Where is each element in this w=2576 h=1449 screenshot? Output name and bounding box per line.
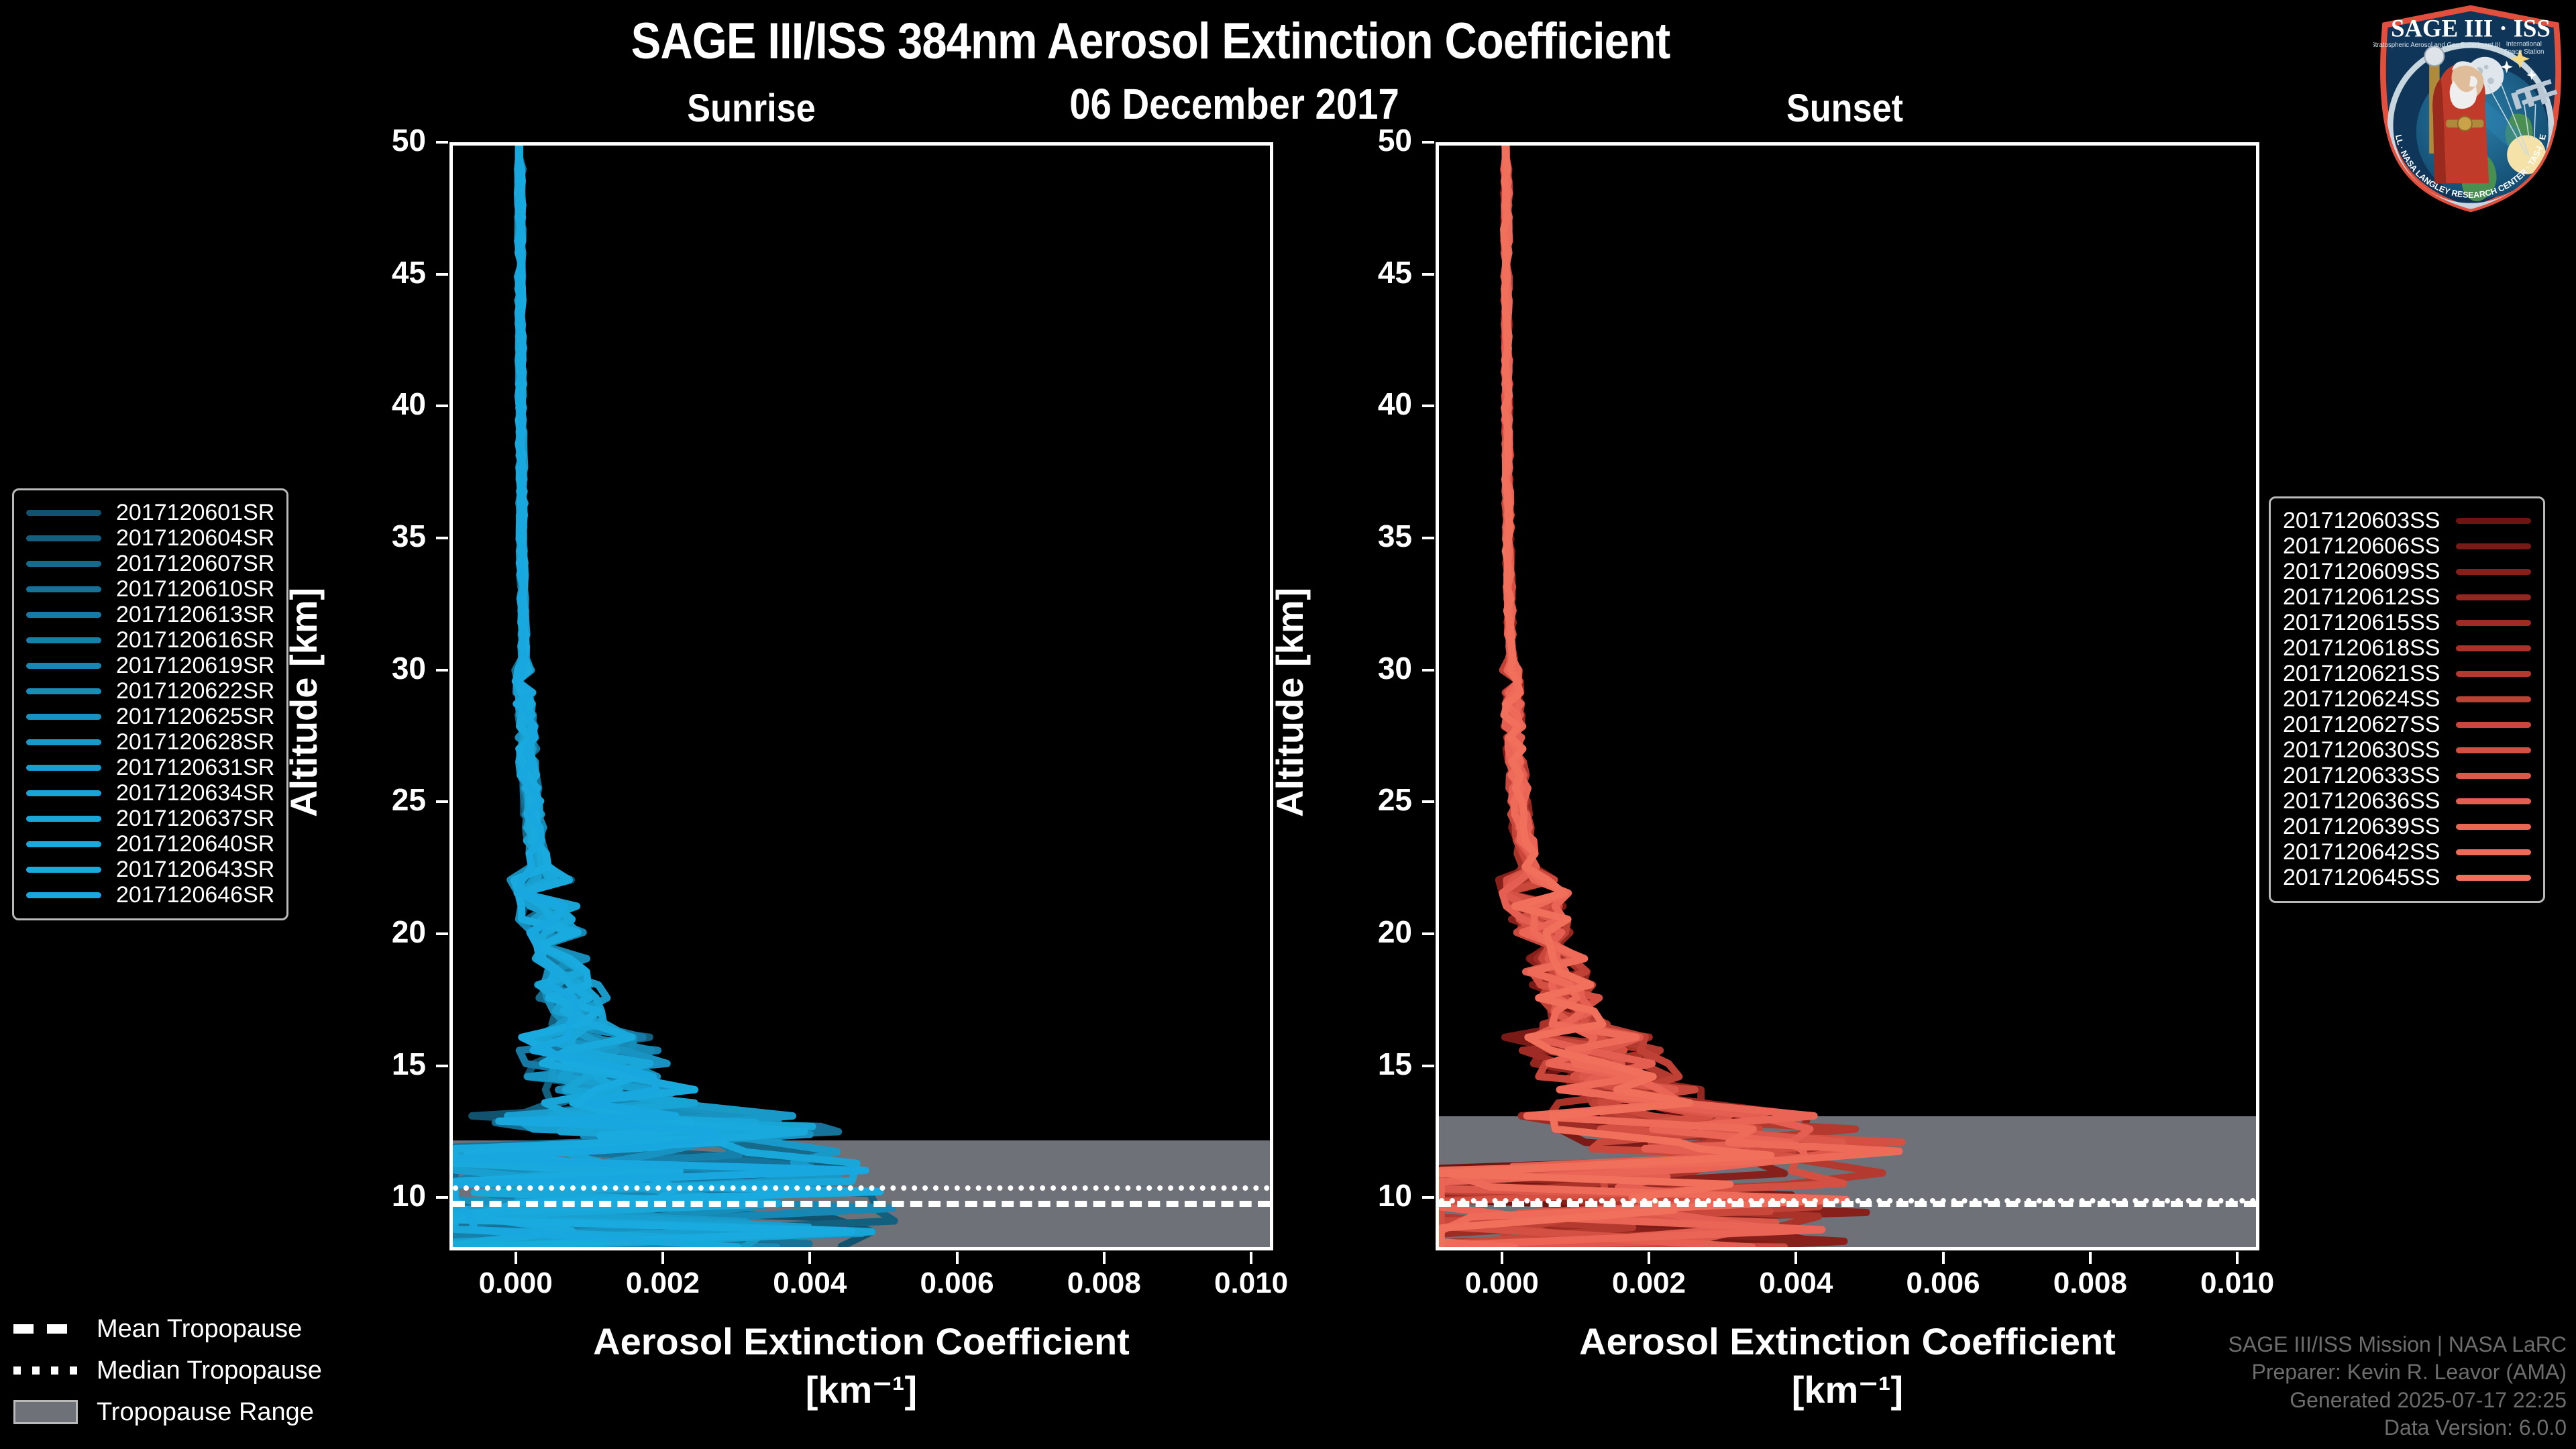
x-tick-mark <box>1648 1252 1650 1264</box>
legend-item[interactable]: 2017120619SR <box>26 653 274 678</box>
legend-item[interactable]: 2017120624SS <box>2283 686 2531 712</box>
x-tick-mark <box>1103 1252 1106 1264</box>
patch-subtitle-right-1: International <box>2506 40 2542 48</box>
x-tick-label: 0.002 <box>1575 1267 1723 1300</box>
legend-color-swatch <box>26 790 101 796</box>
legend-item[interactable]: 2017120643SR <box>26 857 274 882</box>
legend-series-label: 2017120609SS <box>2283 559 2440 585</box>
legend-item[interactable]: 2017120645SS <box>2283 865 2531 890</box>
legend-color-swatch <box>26 535 101 541</box>
legend-color-swatch <box>26 816 101 822</box>
tropopause-legend: Mean Tropopause Median Tropopause Tropop… <box>13 1308 322 1433</box>
legend-color-swatch <box>26 561 101 567</box>
legend-series-label: 2017120603SS <box>2283 508 2440 534</box>
x-tick-mark <box>1501 1252 1503 1264</box>
legend-item[interactable]: 2017120601SR <box>26 500 274 525</box>
x-tick-label: 0.008 <box>2017 1267 2164 1300</box>
y-tick-mark <box>436 669 448 672</box>
x-tick-mark <box>1250 1252 1252 1264</box>
credit-line-version: Data Version: 6.0.0 <box>2229 1414 2567 1442</box>
y-tick-mark <box>436 1065 448 1067</box>
legend-item-tropopause-range: Tropopause Range <box>13 1391 322 1433</box>
sunrise-series-legend[interactable]: 2017120601SR2017120604SR2017120607SR2017… <box>12 488 288 920</box>
legend-series-label: 2017120631SR <box>116 755 274 781</box>
legend-series-label: 2017120634SR <box>116 780 274 806</box>
y-tick-mark <box>1422 932 1434 935</box>
legend-label-range: Tropopause Range <box>97 1398 314 1427</box>
legend-series-label: 2017120624SS <box>2283 686 2440 712</box>
axis-layer: 1015202530354045500.0000.0020.0040.0060.… <box>0 0 2576 1449</box>
legend-item[interactable]: 2017120630SS <box>2283 737 2531 763</box>
x-tick-mark <box>2089 1252 2092 1264</box>
x-tick-label: 0.000 <box>1428 1267 1576 1300</box>
legend-item[interactable]: 2017120603SS <box>2283 508 2531 533</box>
legend-series-label: 2017120622SR <box>116 678 274 704</box>
legend-color-swatch <box>2456 875 2531 881</box>
x-tick-label: 0.010 <box>2163 1267 2311 1300</box>
legend-item[interactable]: 2017120646SR <box>26 882 274 908</box>
legend-item[interactable]: 2017120636SS <box>2283 788 2531 814</box>
x-tick-mark <box>808 1252 811 1264</box>
legend-color-swatch <box>26 663 101 669</box>
legend-color-swatch <box>2456 798 2531 804</box>
legend-series-label: 2017120619SR <box>116 653 274 679</box>
legend-series-label: 2017120612SS <box>2283 584 2440 610</box>
legend-item[interactable]: 2017120610SR <box>26 576 274 602</box>
y-tick-label: 25 <box>1311 782 1412 818</box>
legend-series-label: 2017120637SR <box>116 806 274 832</box>
legend-series-label: 2017120645SS <box>2283 865 2440 891</box>
legend-item[interactable]: 2017120639SS <box>2283 814 2531 839</box>
legend-color-swatch <box>2456 722 2531 728</box>
credit-line-mission: SAGE III/ISS Mission | NASA LaRC <box>2229 1331 2567 1359</box>
y-tick-mark <box>1422 405 1434 407</box>
x-tick-label: 0.004 <box>736 1267 883 1300</box>
legend-item[interactable]: 2017120607SR <box>26 551 274 576</box>
x-axis-units: [km⁻¹] <box>1436 1368 2259 1412</box>
legend-series-label: 2017120642SS <box>2283 839 2440 865</box>
y-tick-mark <box>436 273 448 276</box>
y-tick-label: 20 <box>325 914 426 950</box>
legend-series-label: 2017120627SS <box>2283 712 2440 738</box>
y-tick-label: 40 <box>1311 386 1412 422</box>
legend-color-swatch <box>2456 747 2531 753</box>
legend-item-median-tropopause: Median Tropopause <box>13 1350 322 1391</box>
sage-iii-iss-mission-patch-icon: SAGE III · ISS Stratospheric Aerosol and… <box>2373 5 2568 213</box>
legend-item[interactable]: 2017120618SS <box>2283 635 2531 661</box>
x-tick-mark <box>1794 1252 1797 1264</box>
legend-color-swatch <box>26 586 101 592</box>
legend-color-swatch <box>26 637 101 643</box>
legend-item[interactable]: 2017120634SR <box>26 780 274 806</box>
legend-item[interactable]: 2017120622SR <box>26 678 274 704</box>
legend-color-swatch <box>26 510 101 516</box>
patch-title: SAGE III · ISS <box>2391 15 2551 42</box>
legend-series-label: 2017120646SR <box>116 882 274 908</box>
sunset-series-legend[interactable]: 2017120603SS2017120606SS2017120609SS2017… <box>2269 496 2545 903</box>
legend-series-label: 2017120628SR <box>116 729 274 755</box>
x-tick-label: 0.008 <box>1030 1267 1178 1300</box>
legend-item[interactable]: 2017120633SS <box>2283 763 2531 788</box>
y-axis-title: Altitude [km] <box>1268 588 1311 817</box>
y-tick-mark <box>436 1196 448 1199</box>
legend-color-swatch <box>26 688 101 694</box>
y-tick-label: 10 <box>325 1177 426 1214</box>
legend-item[interactable]: 2017120612SS <box>2283 584 2531 610</box>
legend-color-swatch <box>2456 594 2531 600</box>
x-tick-label: 0.006 <box>883 1267 1031 1300</box>
legend-color-swatch <box>26 714 101 720</box>
legend-series-label: 2017120625SR <box>116 704 274 730</box>
legend-item[interactable]: 2017120613SR <box>26 602 274 627</box>
legend-item[interactable]: 2017120616SR <box>26 627 274 653</box>
legend-color-swatch <box>26 892 101 898</box>
legend-item[interactable]: 2017120604SR <box>26 525 274 551</box>
legend-series-label: 2017120630SS <box>2283 737 2440 763</box>
legend-item[interactable]: 2017120621SS <box>2283 661 2531 686</box>
y-tick-label: 15 <box>325 1046 426 1082</box>
y-tick-label: 30 <box>1311 650 1412 686</box>
legend-item-mean-tropopause: Mean Tropopause <box>13 1308 322 1350</box>
credits-block: SAGE III/ISS Mission | NASA LaRC Prepare… <box>2229 1331 2567 1442</box>
x-tick-label: 0.002 <box>589 1267 737 1300</box>
legend-series-label: 2017120636SS <box>2283 788 2440 814</box>
y-tick-mark <box>1422 1065 1434 1067</box>
y-tick-mark <box>436 932 448 935</box>
y-tick-mark <box>1422 800 1434 803</box>
y-tick-mark <box>436 537 448 539</box>
x-axis-title: Aerosol Extinction Coefficient <box>449 1323 1273 1360</box>
x-tick-label: 0.006 <box>1870 1267 2017 1300</box>
x-axis-title: Aerosol Extinction Coefficient <box>1436 1323 2259 1360</box>
y-tick-label: 45 <box>1311 254 1412 290</box>
legend-item[interactable]: 2017120640SR <box>26 831 274 857</box>
legend-series-label: 2017120618SS <box>2283 635 2440 661</box>
credit-line-generated: Generated 2025-07-17 22:25 <box>2229 1387 2567 1415</box>
legend-series-label: 2017120610SR <box>116 576 274 602</box>
legend-color-swatch <box>2456 824 2531 830</box>
legend-color-swatch <box>2456 518 2531 524</box>
y-tick-label: 15 <box>1311 1046 1412 1082</box>
legend-series-label: 2017120601SR <box>116 500 274 526</box>
x-axis-units: [km⁻¹] <box>449 1368 1273 1412</box>
y-tick-label: 10 <box>1311 1177 1412 1214</box>
y-tick-mark <box>1422 273 1434 276</box>
y-tick-label: 50 <box>325 122 426 158</box>
y-tick-label: 35 <box>1311 518 1412 554</box>
legend-item[interactable]: 2017120642SS <box>2283 839 2531 865</box>
shaded-box-icon <box>13 1404 78 1420</box>
credit-line-preparer: Preparer: Kevin R. Leavor (AMA) <box>2229 1358 2567 1387</box>
x-tick-mark <box>2236 1252 2239 1264</box>
y-tick-label: 20 <box>1311 914 1412 950</box>
y-tick-label: 30 <box>325 650 426 686</box>
legend-series-label: 2017120615SS <box>2283 610 2440 636</box>
x-tick-mark <box>515 1252 517 1264</box>
y-tick-label: 50 <box>1311 122 1412 158</box>
legend-item[interactable]: 2017120625SR <box>26 704 274 729</box>
legend-item[interactable]: 2017120606SS <box>2283 533 2531 559</box>
dashed-line-icon <box>13 1321 78 1337</box>
legend-label-median: Median Tropopause <box>97 1356 322 1385</box>
legend-series-label: 2017120621SS <box>2283 661 2440 687</box>
legend-series-label: 2017120616SR <box>116 627 274 653</box>
legend-color-swatch <box>2456 569 2531 575</box>
y-tick-mark <box>1422 669 1434 672</box>
y-tick-mark <box>436 800 448 803</box>
legend-series-label: 2017120606SS <box>2283 533 2440 559</box>
y-tick-label: 45 <box>325 254 426 290</box>
y-tick-label: 40 <box>325 386 426 422</box>
y-tick-mark <box>436 405 448 407</box>
x-tick-label: 0.010 <box>1177 1267 1325 1300</box>
legend-item[interactable]: 2017120631SR <box>26 755 274 780</box>
legend-series-label: 2017120643SR <box>116 857 274 883</box>
legend-item[interactable]: 2017120627SS <box>2283 712 2531 737</box>
legend-item[interactable]: 2017120609SS <box>2283 559 2531 584</box>
x-tick-label: 0.000 <box>442 1267 590 1300</box>
legend-color-swatch <box>2456 645 2531 651</box>
y-tick-label: 25 <box>325 782 426 818</box>
y-tick-mark <box>1422 1196 1434 1199</box>
x-tick-mark <box>1942 1252 1945 1264</box>
legend-series-label: 2017120640SR <box>116 831 274 857</box>
patch-subtitle-right-2: Space Station <box>2504 48 2544 56</box>
legend-item[interactable]: 2017120637SR <box>26 806 274 831</box>
legend-color-swatch <box>26 841 101 847</box>
legend-item[interactable]: 2017120615SS <box>2283 610 2531 635</box>
y-tick-mark <box>436 141 448 144</box>
legend-color-swatch <box>26 739 101 745</box>
x-tick-mark <box>956 1252 959 1264</box>
y-tick-label: 35 <box>325 518 426 554</box>
legend-series-label: 2017120607SR <box>116 551 274 577</box>
legend-color-swatch <box>2456 543 2531 549</box>
y-tick-mark <box>1422 141 1434 144</box>
x-tick-mark <box>661 1252 664 1264</box>
legend-color-swatch <box>2456 671 2531 677</box>
x-tick-label: 0.004 <box>1722 1267 1870 1300</box>
legend-color-swatch <box>2456 696 2531 702</box>
legend-label-mean: Mean Tropopause <box>97 1315 302 1344</box>
legend-series-label: 2017120633SS <box>2283 763 2440 789</box>
legend-series-label: 2017120613SR <box>116 602 274 628</box>
legend-color-swatch <box>2456 773 2531 779</box>
legend-color-swatch <box>26 867 101 873</box>
legend-color-swatch <box>2456 620 2531 626</box>
legend-color-swatch <box>2456 849 2531 855</box>
legend-series-label: 2017120604SR <box>116 525 274 551</box>
legend-color-swatch <box>26 612 101 618</box>
legend-color-swatch <box>26 765 101 771</box>
legend-item[interactable]: 2017120628SR <box>26 729 274 755</box>
legend-series-label: 2017120639SS <box>2283 814 2440 840</box>
dotted-line-icon <box>13 1362 78 1379</box>
y-tick-mark <box>1422 537 1434 539</box>
patch-subtitle-left: Stratospheric Aerosol and Gas Experiment… <box>2373 42 2500 49</box>
